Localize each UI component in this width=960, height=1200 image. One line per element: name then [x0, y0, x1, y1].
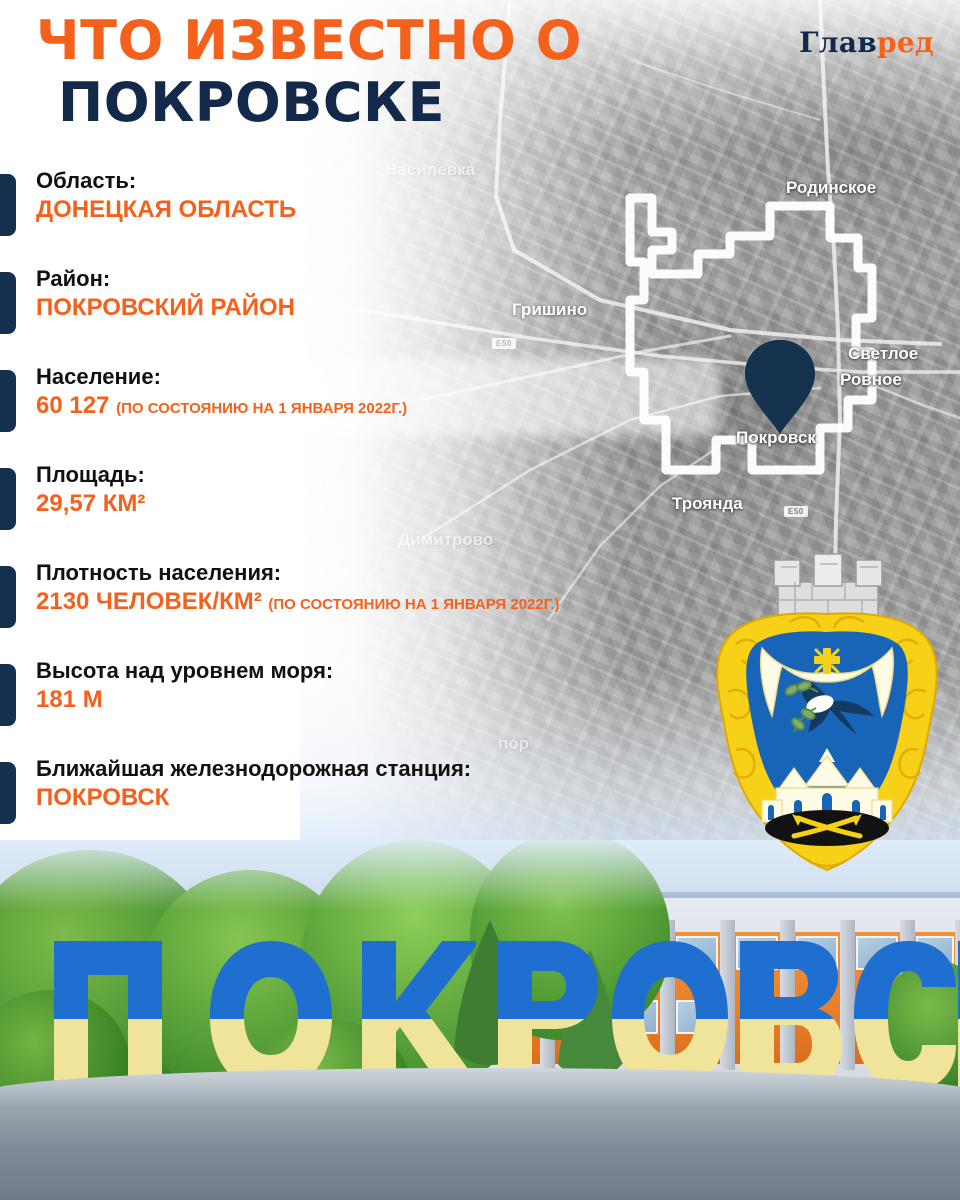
- fact-value: ДОНЕЦКАЯ ОБЛАСТЬ: [36, 196, 720, 225]
- cross-icon: [814, 648, 840, 674]
- title-line-1: ЧТО ИЗВЕСТНО О: [36, 14, 656, 68]
- fact-label: Высота над уровнем моря:: [36, 658, 720, 683]
- road-shield-e50-south: E50: [784, 506, 808, 517]
- logo-text-primary: Глав: [799, 26, 877, 59]
- fact-value: 2130 ЧЕЛОВЕК/КМ² (ПО СОСТОЯНИЮ НА 1 ЯНВА…: [36, 588, 720, 617]
- map-label-rivne: Ровное: [840, 370, 902, 390]
- mural-crown-icon: [774, 554, 882, 618]
- fact-row-oblast: Область: ДОНЕЦКАЯ ОБЛАСТЬ: [0, 168, 720, 266]
- fact-label: Население:: [36, 364, 720, 389]
- mound-sabres: [765, 810, 889, 846]
- fact-row-elevation: Высота над уровнем моря: 181 М: [0, 658, 720, 756]
- map-label-svitle: Светлое: [848, 344, 918, 364]
- fact-label: Область:: [36, 168, 720, 193]
- fact-note: (ПО СОСТОЯНИЮ НА 1 ЯНВАРЯ 2022Г.): [268, 596, 559, 613]
- fact-value-text: 2130 ЧЕЛОВЕК/КМ²: [36, 588, 262, 615]
- fact-row-population: Население: 60 127 (ПО СОСТОЯНИЮ НА 1 ЯНВ…: [0, 364, 720, 462]
- fact-label: Площадь:: [36, 462, 720, 487]
- fact-value-text: 60 127: [36, 392, 109, 419]
- row-marker-bar: [0, 468, 16, 530]
- fact-value: 29,57 КМ²: [36, 490, 720, 519]
- fact-row-railway: Ближайшая железнодорожная станция: ПОКРО…: [0, 756, 720, 854]
- pedestal: [0, 1068, 960, 1200]
- row-marker-bar: [0, 174, 16, 236]
- fact-label: Район:: [36, 266, 720, 291]
- stela-letter: [48, 941, 168, 1096]
- row-marker-bar: [0, 664, 16, 726]
- infographic-poster: Василевка Родинское Гришино Светлое Ровн…: [0, 0, 960, 1200]
- fact-value: 181 М: [36, 686, 720, 715]
- title-line-2: ПОКРОВСКЕ: [58, 76, 656, 130]
- fact-note: (ПО СОСТОЯНИЮ НА 1 ЯНВАРЯ 2022Г.): [116, 400, 407, 417]
- logo-text-accent: ред: [877, 26, 934, 59]
- fact-value: ПОКРОВСКИЙ РАЙОН: [36, 294, 720, 323]
- fact-row-area: Площадь: 29,57 КМ²: [0, 462, 720, 560]
- row-marker-bar: [0, 566, 16, 628]
- stela-letter: [852, 941, 960, 1096]
- glavred-logo[interactable]: Главред: [799, 26, 934, 59]
- fact-row-raion: Район: ПОКРОВСКИЙ РАЙОН: [0, 266, 720, 364]
- fact-label: Плотность населения:: [36, 560, 720, 585]
- coat-of-arms: [690, 552, 960, 877]
- fact-row-density: Плотность населения: 2130 ЧЕЛОВЕК/КМ² (П…: [0, 560, 720, 658]
- fact-label: Ближайшая железнодорожная станция:: [36, 756, 720, 781]
- page-title: ЧТО ИЗВЕСТНО О ПОКРОВСКЕ: [36, 14, 656, 130]
- fact-value: 60 127 (ПО СОСТОЯНИЮ НА 1 ЯНВАРЯ 2022Г.): [36, 392, 720, 421]
- stela-letter: [952, 941, 960, 1096]
- row-marker-bar: [0, 272, 16, 334]
- map-label-rodynske: Родинское: [786, 178, 876, 198]
- map-pin-icon: [742, 338, 818, 436]
- facts-list: Область: ДОНЕЦКАЯ ОБЛАСТЬ Район: ПОКРОВС…: [0, 168, 720, 854]
- row-marker-bar: [0, 370, 16, 432]
- row-marker-bar: [0, 762, 16, 824]
- fact-value: ПОКРОВСК: [36, 784, 720, 813]
- city-sign-photo: [0, 840, 960, 1200]
